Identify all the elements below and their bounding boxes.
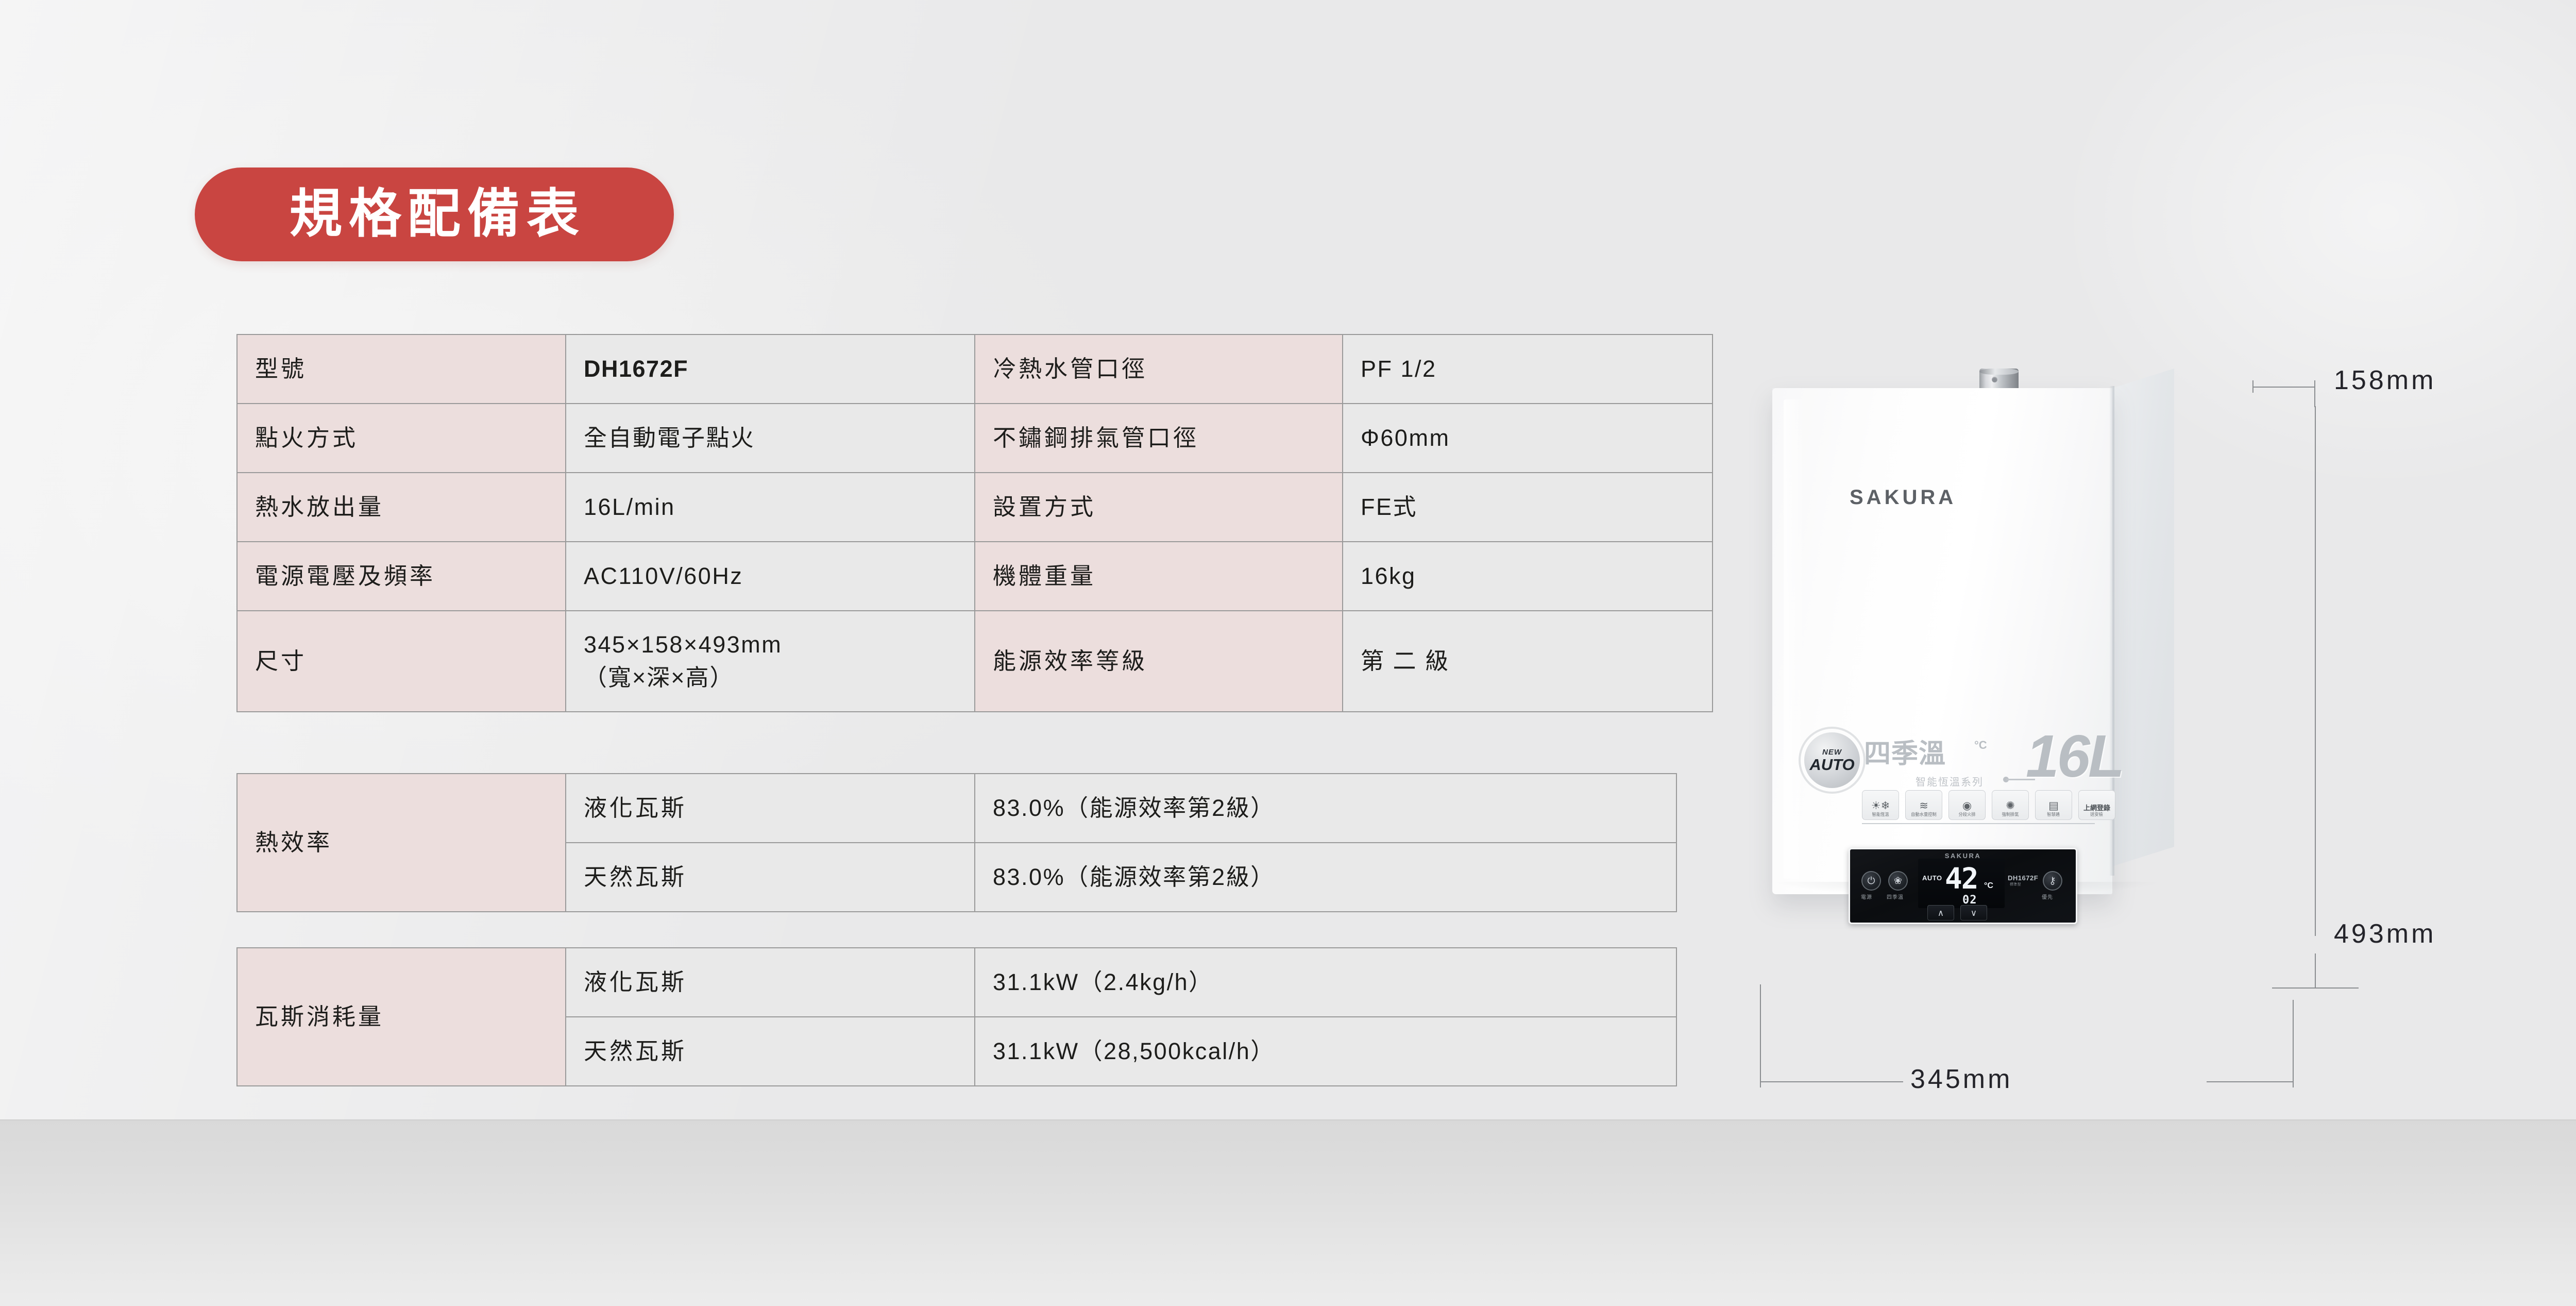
feature-caption: 分段火排: [1958, 813, 1975, 817]
spec-label-dimensions: 尺寸: [237, 611, 566, 712]
spec-value-energy-grade: 第 二 級: [1343, 611, 1713, 712]
chevron-down-icon: ∨: [1971, 909, 1977, 917]
panel-model-sublabel: 標準型: [2010, 882, 2021, 887]
lcd-temperature-value: 42: [1945, 865, 1977, 894]
gas-type-ng: 天然瓦斯: [566, 1017, 975, 1086]
priority-button-label: 優先: [2042, 893, 2053, 900]
page-title-badge: 規格配備表: [195, 168, 674, 261]
gas-type-lpg: 液化瓦斯: [566, 948, 975, 1017]
auto-badge-degree-label: °C: [1974, 739, 1987, 752]
height-dimension-line-upper: [2315, 406, 2316, 936]
spec-label-ignition: 點火方式: [237, 404, 566, 473]
smart-device-icon: ▤: [2048, 800, 2059, 811]
height-dimension-label: 493mm: [2334, 918, 2436, 949]
graphic-underline: [1862, 823, 2095, 824]
power-button-label: 電源: [1861, 893, 1872, 900]
spec-value-installation-type: FE式: [1343, 473, 1713, 542]
width-extension-line-right: [2293, 1000, 2294, 1087]
spec-label-exhaust-pipe-diameter: 不鏽鋼排氣管口徑: [975, 404, 1343, 473]
burner-icon: ◉: [1962, 800, 1972, 811]
control-panel[interactable]: SAKURA ⏻ 電源 ❀ 四季溫 AUTO 42 °C 02 DH1672F …: [1849, 848, 2077, 924]
spec-value-dimensions: 345×158×493mm （寬×深×高）: [566, 611, 975, 712]
gas-value-lpg: 31.1kW（2.4kg/h）: [975, 948, 1676, 1017]
table-row: 尺寸 345×158×493mm （寬×深×高） 能源效率等級 第 二 級: [237, 611, 1713, 712]
temperature-down-button[interactable]: ∨: [1960, 905, 1987, 920]
gas-consumption-table: 瓦斯消耗量 液化瓦斯 31.1kW（2.4kg/h） 天然瓦斯 31.1kW（2…: [236, 947, 1677, 1086]
sun-snowflake-icon: ☀❄: [1871, 800, 1890, 811]
width-dimension-line-left: [1761, 1081, 1903, 1082]
efficiency-type-lpg: 液化瓦斯: [566, 774, 975, 843]
spec-label-energy-grade: 能源效率等級: [975, 611, 1343, 712]
season-mode-label: 四季溫: [1887, 893, 1904, 900]
table-row: 瓦斯消耗量 液化瓦斯 31.1kW（2.4kg/h）: [237, 948, 1676, 1017]
floor-edge-line: [0, 1119, 2576, 1120]
feature-chip-smart-temp: ☀❄ 智能恆溫: [1862, 790, 1899, 820]
feature-caption: 智慧通: [2047, 813, 2060, 817]
spec-label-model: 型號: [237, 334, 566, 404]
water-heater-product: SAKURA NEW AUTO 四季溫 °C 智能恆溫系列 16L ☀❄ 智能恆…: [1772, 369, 2174, 894]
feature-chip-staged-burner: ◉ 分段火排: [1948, 790, 1986, 820]
width-dimension-label: 345mm: [1910, 1064, 2012, 1095]
spec-value-water-pipe-diameter: PF 1/2: [1343, 334, 1713, 404]
table-row: 電源電壓及頻率 AC110V/60Hz 機體重量 16kg: [237, 542, 1713, 611]
thermal-efficiency-table: 熱效率 液化瓦斯 83.0%（能源效率第2級） 天然瓦斯 83.0%（能源效率第…: [236, 773, 1677, 912]
feature-chip-register-promo: 上網登錄 送安檢: [2078, 790, 2115, 820]
efficiency-section-label: 熱效率: [237, 774, 566, 912]
spec-value-exhaust-pipe-diameter: Φ60mm: [1343, 404, 1713, 473]
feature-caption: 送安檢: [2091, 813, 2104, 817]
flue-screw-icon: [1992, 377, 1997, 382]
spec-label-water-pipe-diameter: 冷熱水管口徑: [975, 334, 1343, 404]
spec-value-hot-water-output: 16L/min: [566, 473, 975, 542]
feature-chip-water-control: ≋ 自動水量控制: [1905, 790, 1942, 820]
feature-icon-row: ☀❄ 智能恆溫 ≋ 自動水量控制 ◉ 分段火排 ✺ 強制排氣 ▤ 智慧通: [1862, 790, 2115, 820]
table-row: 熱效率 液化瓦斯 83.0%（能源效率第2級）: [237, 774, 1676, 843]
capacity-mark: 16L: [2026, 726, 2123, 786]
feature-chip-smart-connect: ▤ 智慧通: [2035, 790, 2072, 820]
width-dimension-line-right: [2207, 1081, 2293, 1082]
page-title: 規格配備表: [283, 188, 586, 241]
depth-dimension-line: [2252, 387, 2315, 388]
gas-value-ng: 31.1kW（28,500kcal/h）: [975, 1017, 1676, 1086]
spec-value-unit-weight: 16kg: [1343, 542, 1713, 611]
water-flow-icon: ≋: [1919, 800, 1928, 811]
floor-band: [0, 1119, 2576, 1306]
power-button[interactable]: ⏻: [1861, 871, 1881, 891]
chevron-up-icon: ∧: [1938, 909, 1944, 917]
register-online-label: 上網登錄: [2083, 805, 2110, 811]
auto-badge-icon: NEW AUTO: [1804, 732, 1860, 788]
main-spec-table: 型號 DH1672F 冷熱水管口徑 PF 1/2 點火方式 全自動電子點火 不鏽…: [236, 334, 1713, 712]
feature-caption: 強制排氣: [2002, 813, 2019, 817]
auto-badge-new-label: NEW: [1822, 748, 1842, 756]
panel-model-label: DH1672F: [2008, 874, 2038, 882]
width-extension-line-left: [1760, 984, 1761, 1087]
depth-dimension-label: 158mm: [2334, 365, 2436, 396]
dimensions-value-line1: 345×158×493mm: [584, 631, 782, 658]
table-row: 熱水放出量 16L/min 設置方式 FE式: [237, 473, 1713, 542]
gas-section-label: 瓦斯消耗量: [237, 948, 566, 1086]
spec-label-power-supply: 電源電壓及頻率: [237, 542, 566, 611]
temperature-up-button[interactable]: ∧: [1927, 905, 1954, 920]
efficiency-type-ng: 天然瓦斯: [566, 843, 975, 912]
feature-caption: 智能恆溫: [1872, 813, 1889, 817]
height-dimension-line-lower: [2315, 953, 2316, 989]
auto-badge-auto-label: AUTO: [1809, 757, 1854, 773]
height-extension-line-bottom: [2272, 987, 2359, 989]
lcd-display: AUTO 42 °C 02: [1918, 859, 2005, 908]
season-mode-button[interactable]: ❀: [1888, 871, 1908, 891]
feature-chip-forced-exhaust: ✺ 強制排氣: [1992, 790, 2029, 820]
heater-front-highlight: [1784, 399, 1805, 879]
spec-value-ignition: 全自動電子點火: [566, 404, 975, 473]
feature-caption: 自動水量控制: [1911, 813, 1937, 817]
season-icon: ❀: [1894, 876, 1902, 886]
spec-value-power-supply: AC110V/60Hz: [566, 542, 975, 611]
product-image-area: SAKURA NEW AUTO 四季溫 °C 智能恆溫系列 16L ☀❄ 智能恆…: [1716, 268, 2499, 1103]
auto-badge-chinese-label: 四季溫: [1864, 741, 1946, 767]
depth-extension-line-right: [2314, 380, 2315, 407]
spec-value-model: DH1672F: [566, 334, 975, 404]
spec-label-unit-weight: 機體重量: [975, 542, 1343, 611]
table-row: 型號 DH1672F 冷熱水管口徑 PF 1/2: [237, 334, 1713, 404]
smart-series-label: 智能恆溫系列: [1916, 774, 1984, 789]
priority-button[interactable]: ⚷: [2043, 871, 2062, 891]
lcd-temperature-unit: °C: [1984, 881, 1993, 891]
product-brand-logo: SAKURA: [1850, 486, 1956, 509]
table-row: 點火方式 全自動電子點火 不鏽鋼排氣管口徑 Φ60mm: [237, 404, 1713, 473]
spec-label-hot-water-output: 熱水放出量: [237, 473, 566, 542]
key-lock-icon: ⚷: [2049, 876, 2056, 886]
power-icon: ⏻: [1867, 876, 1875, 886]
lcd-auto-indicator: AUTO: [1922, 874, 1942, 882]
heater-side-face: [2112, 369, 2174, 866]
efficiency-value-lpg: 83.0%（能源效率第2級）: [975, 774, 1676, 843]
spec-label-installation-type: 設置方式: [975, 473, 1343, 542]
product-graphic-block: NEW AUTO 四季溫 °C 智能恆溫系列 16L ☀❄ 智能恆溫 ≋ 自動水…: [1804, 729, 2096, 819]
dimensions-value-line2: （寬×深×高）: [584, 661, 957, 694]
fan-icon: ✺: [2006, 800, 2015, 811]
flue-pipe-top-rim: [1979, 369, 2019, 375]
efficiency-value-ng: 83.0%（能源效率第2級）: [975, 843, 1676, 912]
